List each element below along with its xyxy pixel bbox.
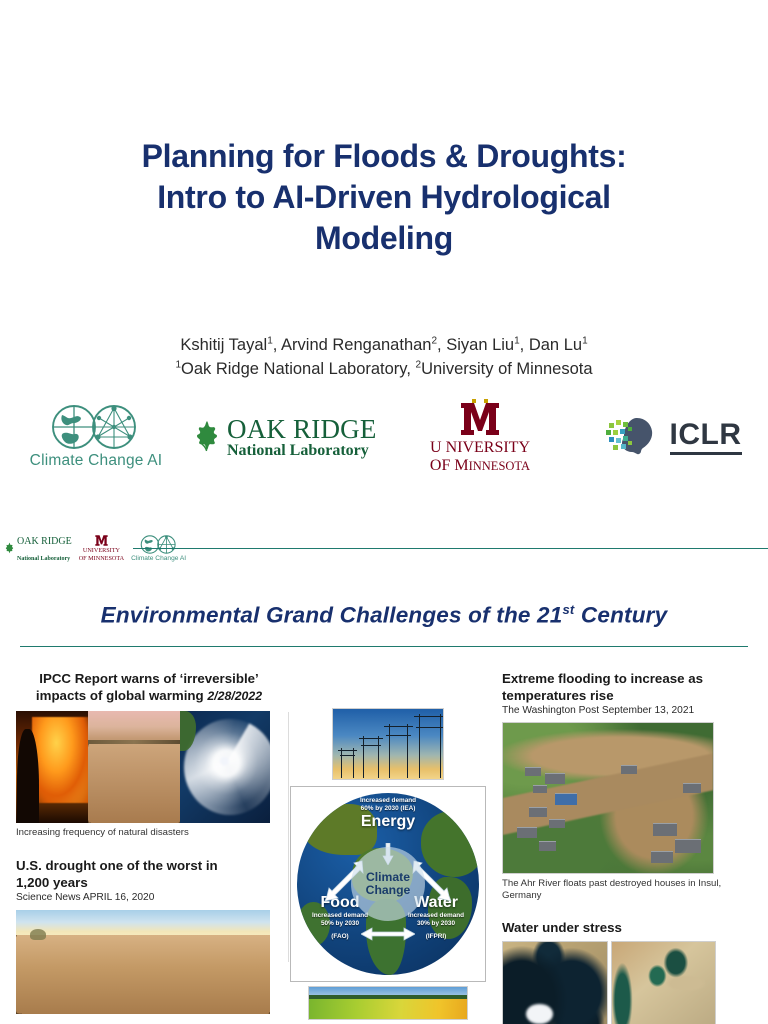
nexus-center-climate-change: Climate Change bbox=[351, 847, 425, 921]
author-block: Kshitij Tayal1, Arvind Renganathan2, Siy… bbox=[64, 334, 704, 382]
image-wildfire bbox=[16, 711, 88, 823]
headline-ipcc: IPCC Report warns of ‘irreversible’ impa… bbox=[16, 670, 282, 705]
climate-change-ai-globes-icon bbox=[140, 535, 178, 554]
title-slide: Planning for Floods & Droughts: Intro to… bbox=[0, 0, 768, 530]
author-names: Kshitij Tayal1, Arvind Renganathan2, Siy… bbox=[64, 334, 704, 358]
header-divider bbox=[133, 548, 768, 549]
slide-title-tail: Century bbox=[574, 603, 667, 628]
author-affiliation-marker: 1 bbox=[267, 336, 273, 347]
header-label-university: UNIVERSITY bbox=[83, 547, 120, 554]
slide-title: Environmental Grand Challenges of the 21… bbox=[0, 602, 768, 629]
pylon-2 bbox=[363, 736, 379, 778]
umn-block-m-icon bbox=[94, 534, 109, 547]
image-sky-region bbox=[16, 910, 270, 937]
logo-label-national-laboratory: National Laboratory bbox=[227, 442, 369, 459]
slide-title-ordinal-suffix: st bbox=[563, 602, 575, 617]
image-dry-lakebed bbox=[16, 910, 270, 1014]
image-hurricane-satellite bbox=[180, 711, 270, 823]
headline-line-1: IPCC Report warns of ‘irreversible’ bbox=[16, 670, 282, 687]
image-sea-after bbox=[611, 941, 717, 1024]
left-column: IPCC Report warns of ‘irreversible’ impa… bbox=[16, 670, 282, 1014]
header-logo-umn: UNIVERSITY OF MINNESOTA bbox=[79, 534, 124, 561]
author-affiliation-marker: 1 bbox=[582, 336, 588, 347]
nexus-water-demand-line-2: 30% by 2030 bbox=[417, 920, 455, 927]
caption-natural-disasters: Increasing frequency of natural disaster… bbox=[16, 827, 282, 839]
affiliation-name: Oak Ridge National Laboratory bbox=[181, 360, 406, 378]
author-name: Arvind Renganathan bbox=[281, 336, 431, 354]
nexus-food-demand-line-2: 50% by 2030 bbox=[321, 920, 359, 927]
caption-ahr-river: The Ahr River floats past destroyed hous… bbox=[502, 878, 752, 903]
image-farmland-field bbox=[308, 986, 468, 1020]
nexus-node-energy: Increased demand 60% by 2030 (IEA) Energ… bbox=[328, 797, 448, 830]
source-washington-post: The Washington Post September 13, 2021 bbox=[502, 705, 752, 718]
caption-line-1: The Ahr River floats past destroyed hous… bbox=[502, 878, 696, 889]
logo-label-climate-change-ai: Climate Change AI bbox=[30, 452, 163, 470]
image-crop-region bbox=[309, 999, 467, 1019]
nexus-food-demand-line-1: Increased demand bbox=[312, 912, 368, 919]
diagram-climate-energy-food-water-nexus: Increased demand 60% by 2030 (IEA) Energ… bbox=[290, 786, 486, 982]
source-science-news: Science News APRIL 16, 2020 bbox=[16, 892, 282, 905]
headline-line-1: U.S. drought one of the worst in bbox=[16, 857, 282, 874]
slide-title-main: Environmental Grand Challenges of the 21 bbox=[101, 603, 563, 628]
sponsor-logo-row: Climate Change AI OAK RIDGE National Lab… bbox=[0, 392, 768, 482]
logo-label-of-minnesota-text: OF MINNESOTA bbox=[430, 457, 530, 474]
image-shrinking-sea-comparison bbox=[502, 941, 716, 1024]
presentation-page: Planning for Floods & Droughts: Intro to… bbox=[0, 0, 768, 1024]
headline-line-2: 1,200 years bbox=[16, 874, 282, 891]
middle-column: Increased demand 60% by 2030 (IEA) Energ… bbox=[288, 708, 488, 1020]
logo-label-university-text: NIVERSITY bbox=[446, 439, 530, 456]
page-title: Planning for Floods & Droughts: Intro to… bbox=[40, 136, 728, 259]
logo-label-oak-ridge: OAK RIDGE bbox=[227, 414, 377, 444]
headline-extreme-flooding: Extreme flooding to increase as temperat… bbox=[502, 670, 752, 704]
climate-change-ai-globes-icon bbox=[50, 404, 142, 450]
author-affiliation-marker: 2 bbox=[431, 336, 437, 347]
author-name: Dan Lu bbox=[529, 336, 582, 354]
title-line-2: Intro to AI-Driven Hydrological bbox=[40, 177, 728, 218]
image-flooded-village-aerial bbox=[502, 722, 714, 874]
nexus-arrow-food-water bbox=[361, 927, 415, 941]
iclr-mosaic-brain-icon bbox=[603, 414, 663, 460]
image-transmission-towers bbox=[332, 708, 444, 780]
title-line-3: Modeling bbox=[40, 218, 728, 259]
right-column: Extreme flooding to increase as temperat… bbox=[502, 670, 752, 1024]
affiliation-list: 1Oak Ridge National Laboratory, 2Univers… bbox=[64, 358, 704, 382]
oak-ridge-oak-leaf-icon bbox=[4, 542, 15, 555]
content-slide: OAK RIDGE National Laboratory UNIVERSITY… bbox=[0, 530, 768, 1024]
news-item-extreme-flooding: Extreme flooding to increase as temperat… bbox=[502, 670, 752, 903]
header-label-climate-change-ai: Climate Change AI bbox=[131, 555, 186, 562]
image-shrub bbox=[30, 929, 46, 940]
nexus-energy-label: Energy bbox=[328, 814, 448, 830]
logo-iclr: ICLR bbox=[576, 392, 768, 482]
title-underline bbox=[20, 646, 748, 647]
news-item-water-under-stress: Water under stress bbox=[502, 919, 752, 1024]
headline-line-2: temperatures rise bbox=[502, 687, 752, 704]
header-label-oak-ridge: OAK RIDGE bbox=[17, 536, 72, 547]
headline-date: 2/28/2022 bbox=[207, 689, 262, 703]
author-affiliation-marker: 1 bbox=[514, 336, 520, 347]
pylon-3 bbox=[389, 724, 408, 778]
headline-us-drought: U.S. drought one of the worst in 1,200 y… bbox=[16, 857, 282, 891]
nexus-center-line-1: Climate bbox=[366, 871, 410, 884]
pylon-1 bbox=[341, 748, 354, 778]
author-name: Kshitij Tayal bbox=[180, 336, 267, 354]
oak-ridge-oak-leaf-icon bbox=[192, 420, 222, 454]
title-line-1: Planning for Floods & Droughts: bbox=[40, 136, 728, 177]
headline-line-1: Extreme flooding to increase as bbox=[502, 670, 752, 687]
image-sea-before bbox=[502, 941, 608, 1024]
logo-university-of-minnesota: UUNIVERSITY NIVERSITY OF MINNESOTA bbox=[384, 392, 576, 482]
slide-header: OAK RIDGE National Laboratory UNIVERSITY… bbox=[0, 530, 768, 572]
header-label-of-minnesota: OF MINNESOTA bbox=[79, 555, 124, 562]
nexus-energy-demand-line-1: Increased demand bbox=[360, 797, 416, 804]
nexus-energy-demand-line-2: 60% by 2030 (IEA) bbox=[361, 805, 416, 812]
image-natural-disasters-triptych bbox=[16, 711, 270, 823]
logo-climate-change-ai: Climate Change AI bbox=[0, 392, 192, 482]
nexus-water-demand-line-1: Increased demand bbox=[408, 912, 464, 919]
header-logo-oak-ridge: OAK RIDGE National Laboratory bbox=[4, 532, 72, 564]
logo-label-iclr: ICLR bbox=[670, 419, 742, 455]
image-cracked-ground-region bbox=[16, 935, 270, 1014]
image-cracked-drought-soil bbox=[88, 711, 180, 823]
logo-oak-ridge-national-laboratory: OAK RIDGE National Laboratory bbox=[192, 392, 384, 482]
nexus-center-line-2: Change bbox=[366, 884, 411, 897]
author-name: Siyan Liu bbox=[446, 336, 514, 354]
news-item-ipcc: IPCC Report warns of ‘irreversible’ impa… bbox=[16, 670, 282, 839]
pylon-4 bbox=[419, 714, 441, 778]
image-houses-region bbox=[503, 723, 713, 873]
header-label-national-laboratory: National Laboratory bbox=[17, 556, 70, 562]
headline-line-2: impacts of global warming bbox=[36, 688, 204, 703]
affiliation-name: University of Minnesota bbox=[421, 360, 593, 378]
headline-water-under-stress: Water under stress bbox=[502, 919, 752, 936]
umn-block-m-icon bbox=[458, 399, 502, 439]
news-item-us-drought: U.S. drought one of the worst in 1,200 y… bbox=[16, 857, 282, 1014]
